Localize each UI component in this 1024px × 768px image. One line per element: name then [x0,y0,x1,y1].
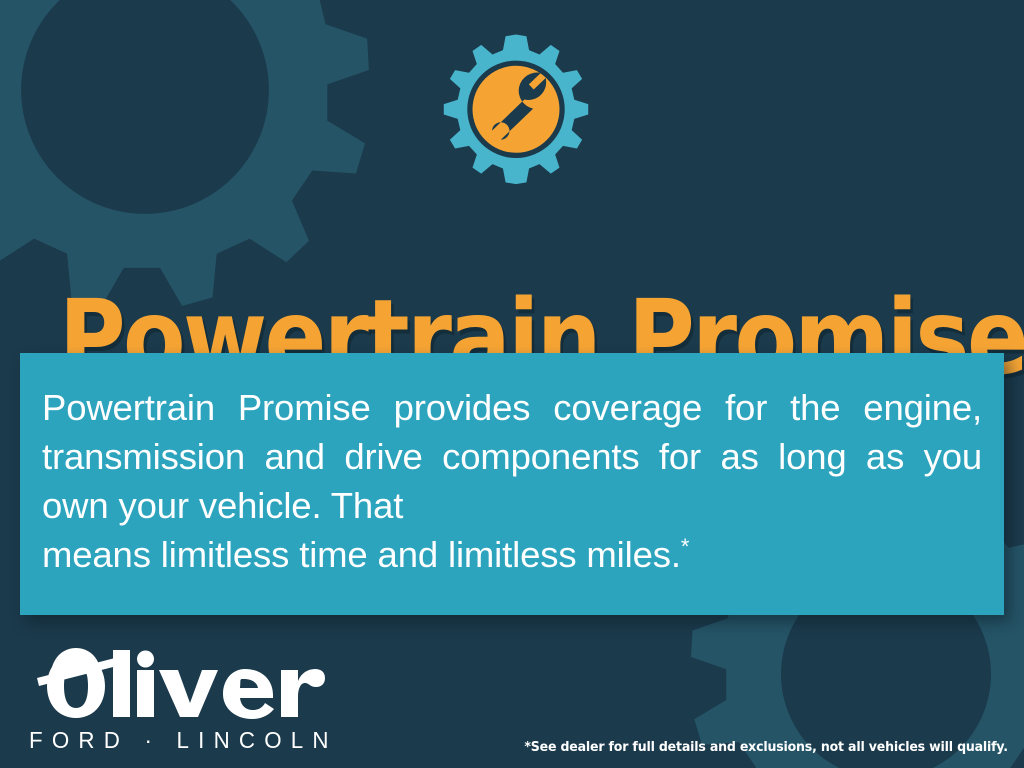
oliver-wordmark-icon [29,640,329,726]
promise-callout-panel: Powertrain Promise provides coverage for… [20,353,1004,615]
promise-description-last-line-text: means limitless time and limitless miles… [42,534,681,575]
dealer-logo: FORD · LINCOLN [29,640,329,758]
promise-description-main: Powertrain Promise provides coverage for… [42,387,982,526]
dealer-logo-subtitle: FORD · LINCOLN [29,727,320,754]
footnote-marker: * [681,534,689,559]
promise-description: Powertrain Promise provides coverage for… [42,383,982,579]
powertrain-promise-poster: Powertrain Promise Powertrain Promise pr… [0,0,1024,768]
promise-description-last-line: means limitless time and limitless miles… [42,530,982,579]
disclaimer-text: *See dealer for full details and exclusi… [525,739,1008,755]
gear-wrench-icon [429,31,603,205]
